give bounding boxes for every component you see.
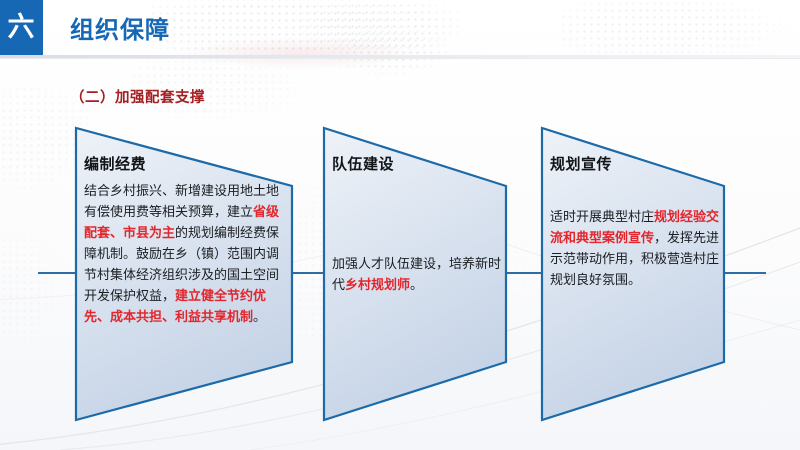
block-1-run-5: 。 <box>253 309 266 324</box>
chevron-block-3[interactable]: 规划宣传 适时开展典型村庄规划经验交流和典型案例宣传，发挥先进示范带动作用，积极… <box>536 120 736 430</box>
slide-header: 六 组织保障 <box>0 0 800 55</box>
header-divider-secondary <box>0 58 800 59</box>
block-1-run-0: 结合乡村振兴、新增建设用地土地有偿使用费等相关预算，建立 <box>84 183 279 219</box>
chevron-block-2[interactable]: 队伍建设 加强人才队伍建设，培养新时代乡村规划师。 <box>318 120 518 430</box>
slide-canvas: 六 组织保障 （二）加强配套支撑 编制经费 结合乡村振兴、新增建设用地土地有偿使… <box>0 0 800 450</box>
block-2-run-2: 。 <box>410 277 423 292</box>
block-3-run-0: 适时开展典型村庄 <box>550 209 654 224</box>
section-number-text: 六 <box>8 14 36 41</box>
block-3-title: 规划宣传 <box>550 157 612 174</box>
block-2-title: 队伍建设 <box>332 157 394 174</box>
block-2-body: 加强人才队伍建设，培养新时代乡村规划师。 <box>332 253 504 295</box>
page-title: 组织保障 <box>70 10 170 45</box>
block-3-body: 适时开展典型村庄规划经验交流和典型案例宣传，发挥先进示范带动作用，积极营造村庄规… <box>550 206 722 290</box>
chevron-block-1[interactable]: 编制经费 结合乡村振兴、新增建设用地土地有偿使用费等相关预算，建立省级配套、市县… <box>70 120 305 430</box>
section-number-badge: 六 <box>0 0 43 55</box>
world-map-dot-pattern <box>0 230 80 350</box>
block-1-title: 编制经费 <box>84 157 146 174</box>
block-1-body: 结合乡村振兴、新增建设用地土地有偿使用费等相关预算，建立省级配套、市县为主的规划… <box>84 180 280 327</box>
section-subtitle: （二）加强配套支撑 <box>70 86 205 107</box>
block-2-run-1: 乡村规划师 <box>345 277 410 292</box>
